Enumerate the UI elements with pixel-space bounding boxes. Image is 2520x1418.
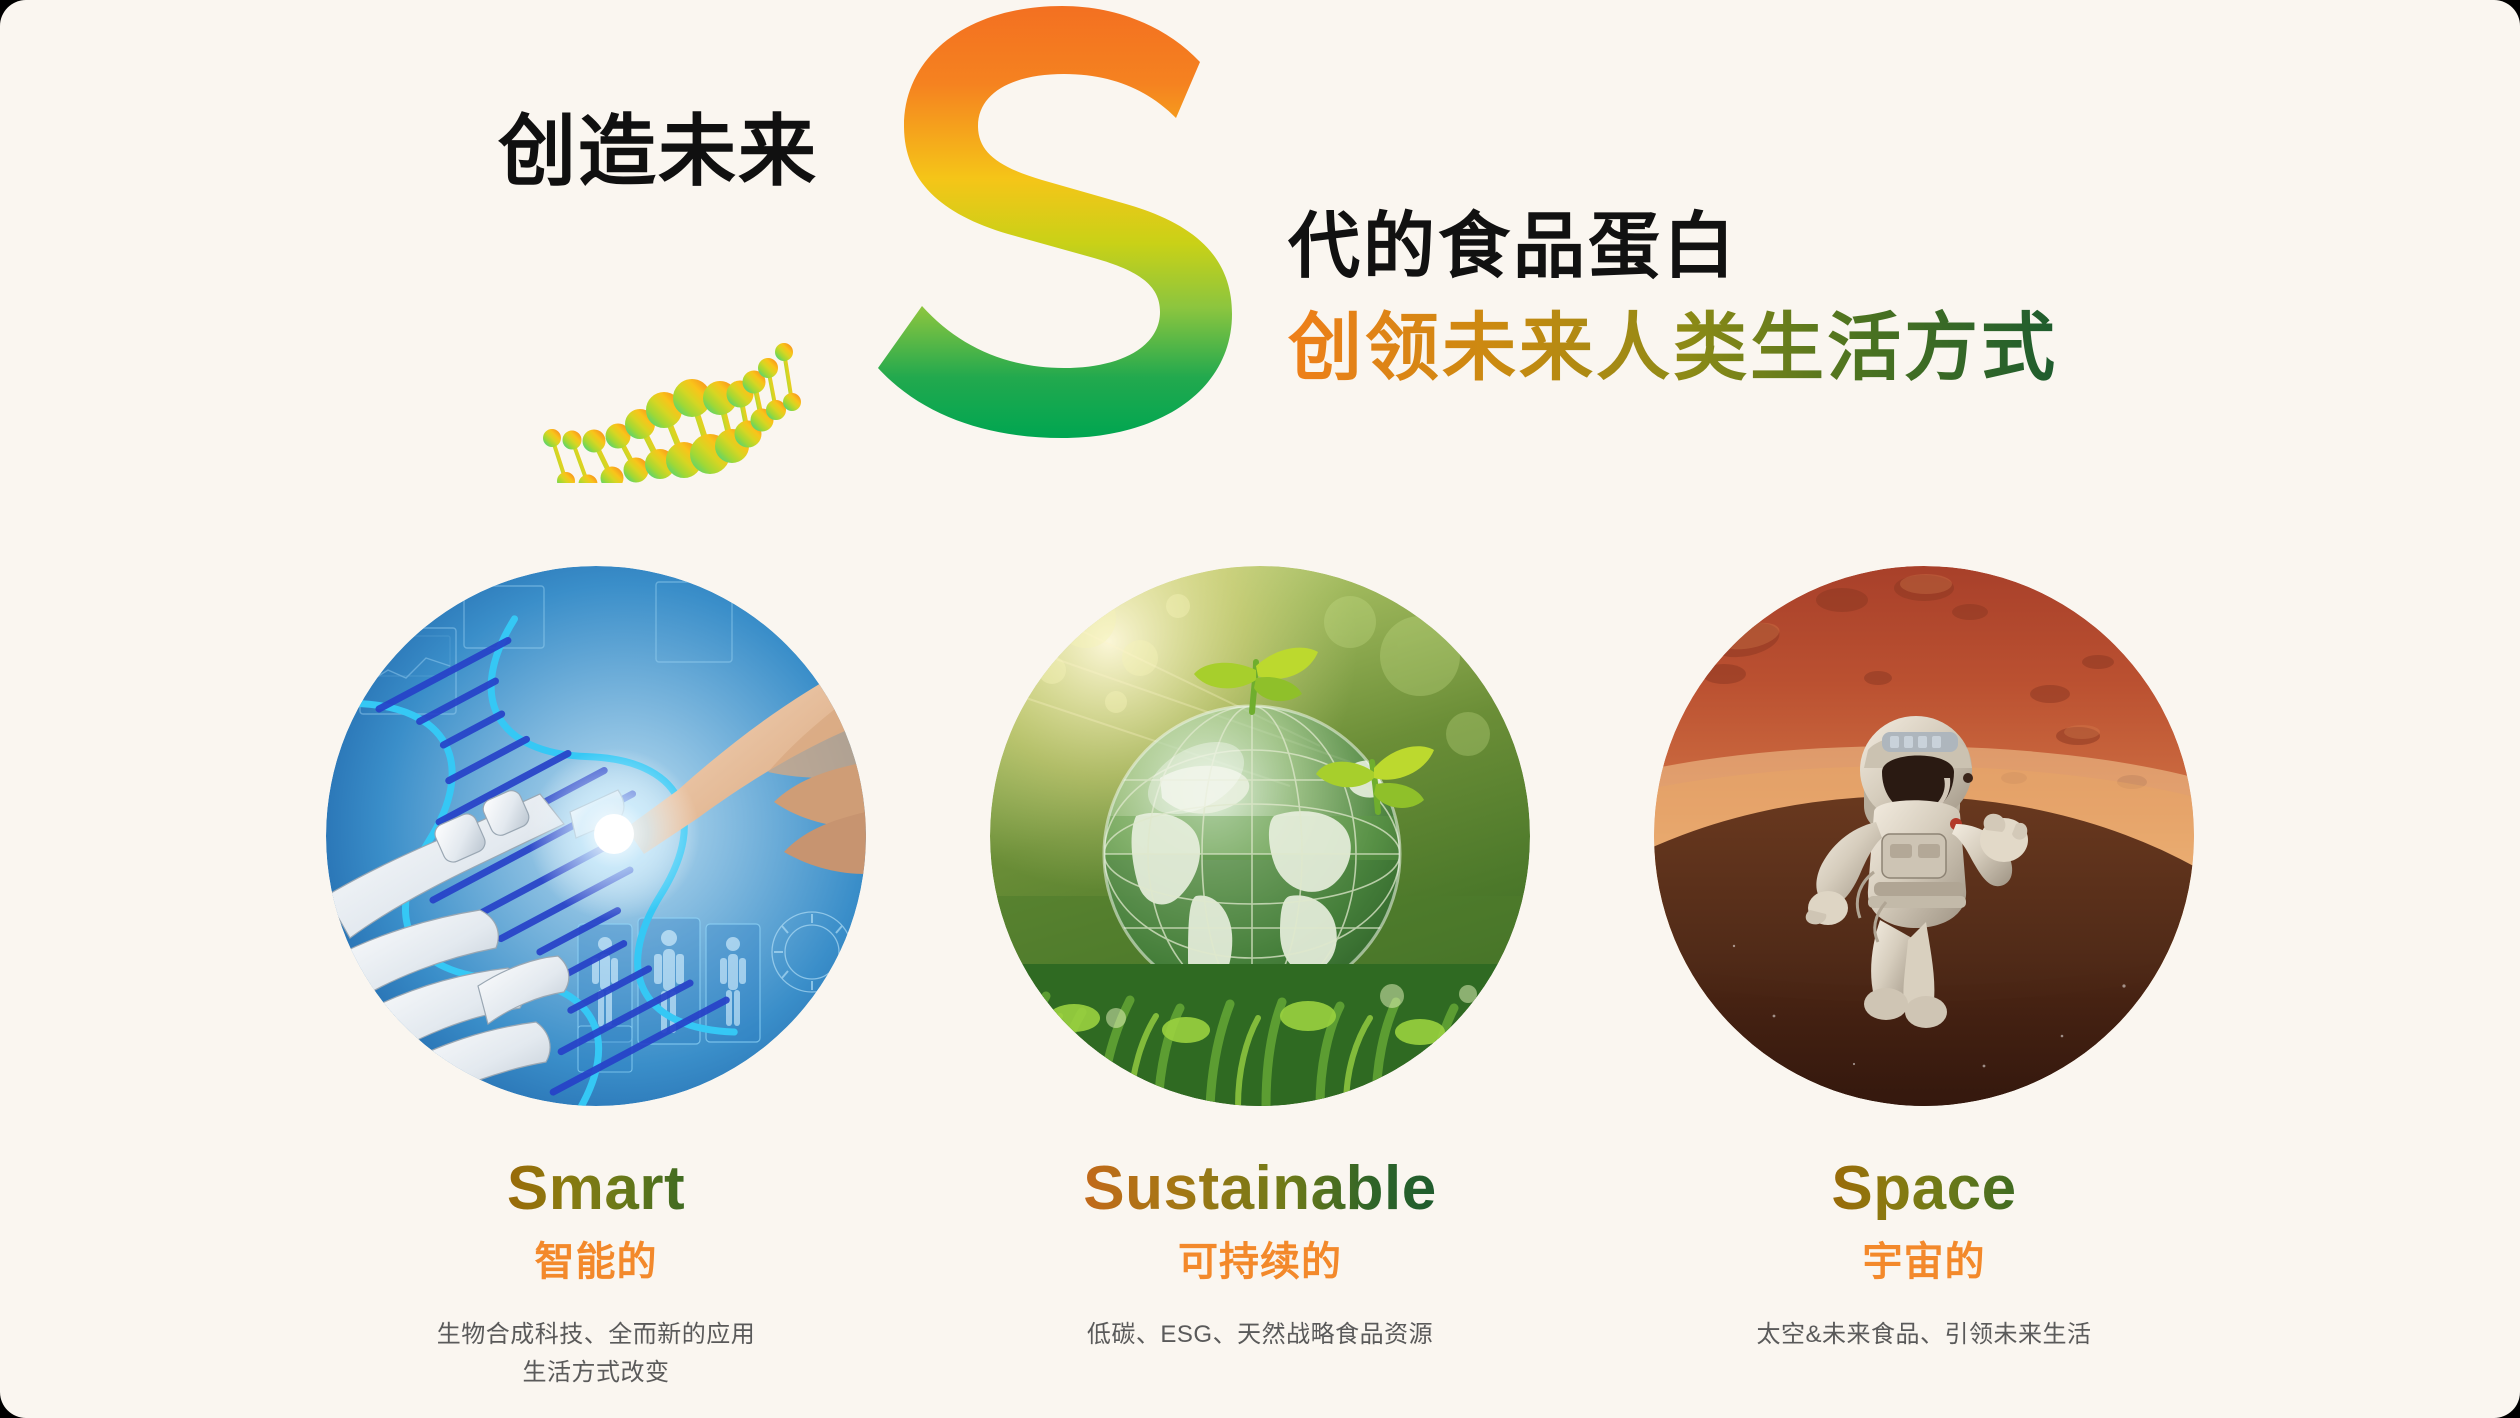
big-s-logo <box>848 0 1268 466</box>
pillar-subtitle-space: 宇宙的 <box>1863 1242 1986 1282</box>
dna-helix-icon <box>540 318 810 483</box>
pillar-subtitle-sustainable: 可持续的 <box>1178 1242 1342 1282</box>
pillar-sustainable: Sustainable 可持续的 低碳、ESG、天然战略食品资源 <box>980 566 1540 1393</box>
pillar-title-space: Space <box>1831 1158 2016 1220</box>
smart-biotech-image <box>326 566 866 1106</box>
pillar-description-smart: 生物合成科技、全而新的应用生活方式改变 <box>431 1316 761 1393</box>
sustainable-globe-image <box>990 566 1530 1106</box>
pillars-row: Smart 智能的 生物合成科技、全而新的应用生活方式改变 <box>0 566 2520 1393</box>
headline-right-line2: 创领未来人类生活方式 <box>1288 304 2058 391</box>
space-astronaut-image <box>1654 566 2194 1106</box>
pillar-description-space: 太空&未来食品、引领未来生活 <box>1756 1316 2091 1354</box>
slide-canvas: 创造未来 代的食品蛋白 创领未来人类生活方式 <box>0 0 2520 1418</box>
headline-right-line1: 代的食品蛋白 <box>1288 205 2058 290</box>
pillar-smart: Smart 智能的 生物合成科技、全而新的应用生活方式改变 <box>316 566 876 1393</box>
pillar-title-smart: Smart <box>507 1158 685 1220</box>
headline-left-text: 创造未来 <box>498 112 818 190</box>
pillar-subtitle-smart: 智能的 <box>535 1242 658 1282</box>
headline-right-block: 代的食品蛋白 创领未来人类生活方式 <box>1288 205 2058 391</box>
pillar-title-sustainable: Sustainable <box>1083 1158 1437 1220</box>
pillar-space: Space 宇宙的 太空&未来食品、引领未来生活 <box>1644 566 2204 1393</box>
pillar-description-sustainable: 低碳、ESG、天然战略食品资源 <box>1087 1316 1433 1354</box>
